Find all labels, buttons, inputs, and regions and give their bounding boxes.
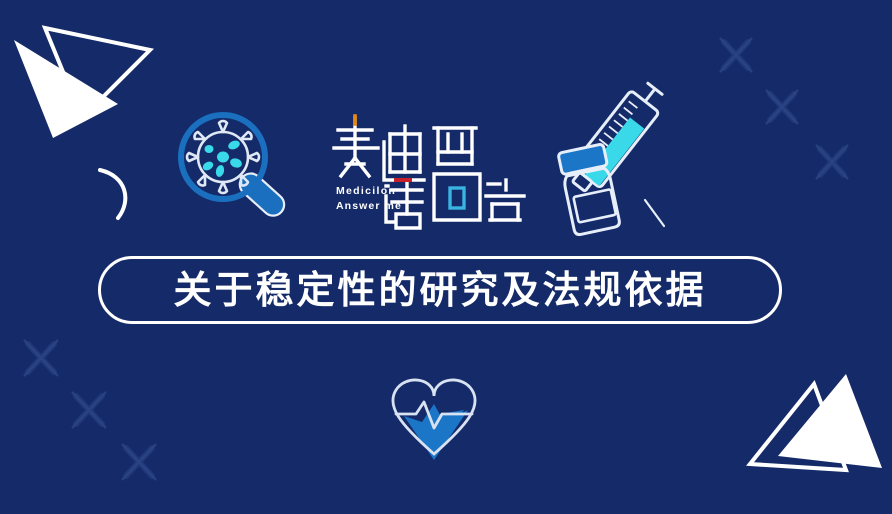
x-mark-group-bottom-left (0, 320, 200, 514)
x-mark-group-top-right (700, 20, 892, 220)
x-mark-icon (770, 94, 794, 120)
virus-icon (187, 121, 259, 193)
medicilon-logo: Medicilon Answer me (330, 112, 530, 230)
title-pill: 关于稳定性的研究及法规依据 (98, 256, 782, 324)
promo-banner: Medicilon Answer me (0, 0, 892, 514)
page-title: 关于稳定性的研究及法规依据 (173, 271, 706, 309)
x-mark-icon (126, 448, 152, 476)
triangle-filled-icon (778, 374, 882, 468)
arc-icon (96, 166, 140, 222)
logo-latin-line2: Answer me (336, 199, 402, 214)
syringe-vial-group (552, 78, 677, 240)
heart-pulse-icon (382, 370, 486, 460)
triangle-filled-icon (14, 40, 118, 138)
x-mark-icon (76, 396, 102, 424)
triangle-group-bottom-right (742, 372, 892, 514)
magnifier-virus-icon (168, 105, 308, 220)
triangle-group-top-left (0, 18, 185, 158)
x-mark-icon (28, 344, 54, 372)
virus-nucleus-dots (201, 139, 243, 178)
x-mark-icon (724, 42, 748, 68)
logo-latin-text: Medicilon Answer me (336, 184, 402, 214)
x-mark-icon (820, 149, 844, 175)
logo-latin-line1: Medicilon (336, 184, 402, 199)
